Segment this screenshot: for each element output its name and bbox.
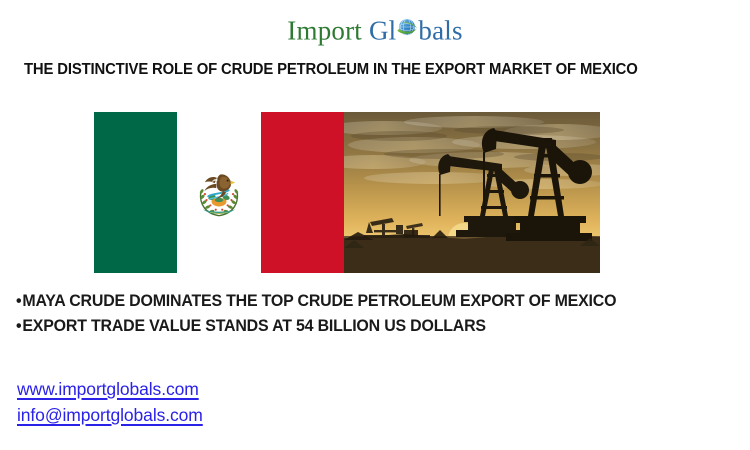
bullet-marker: • — [16, 317, 21, 335]
bullet-list: •MAYA CRUDE DOMINATES THE TOP CRUDE PETR… — [16, 289, 736, 339]
bullet-item: •MAYA CRUDE DOMINATES THE TOP CRUDE PETR… — [16, 289, 725, 314]
oil-pumpjacks-sunset-photo — [344, 112, 600, 273]
flag-stripe-red — [261, 112, 344, 273]
logo-text-gl: Gl — [369, 15, 396, 45]
brand-logo[interactable]: ImportGl bals — [0, 16, 750, 44]
bullet-text: MAYA CRUDE DOMINATES THE TOP CRUDE PETRO… — [22, 292, 616, 310]
mexico-flag — [94, 112, 344, 273]
bullet-marker: • — [16, 292, 21, 310]
mexico-coat-of-arms-icon — [192, 166, 246, 220]
media-strip — [94, 112, 600, 273]
bullet-text: EXPORT TRADE VALUE STANDS AT 54 BILLION … — [22, 317, 486, 335]
globe-icon — [396, 16, 418, 38]
footer-links: www.importglobals.com info@importglobals… — [17, 376, 203, 428]
flag-stripe-green — [94, 112, 177, 273]
page-title: THE DISTINCTIVE ROLE OF CRUDE PETROLEUM … — [24, 61, 705, 79]
bullet-item: •EXPORT TRADE VALUE STANDS AT 54 BILLION… — [16, 314, 725, 339]
website-link[interactable]: www.importglobals.com — [17, 376, 203, 402]
flag-stripe-white — [177, 112, 260, 273]
email-link[interactable]: info@importglobals.com — [17, 402, 203, 428]
logo-text-import: Import — [287, 15, 362, 45]
logo-text-bals: bals — [418, 15, 462, 45]
